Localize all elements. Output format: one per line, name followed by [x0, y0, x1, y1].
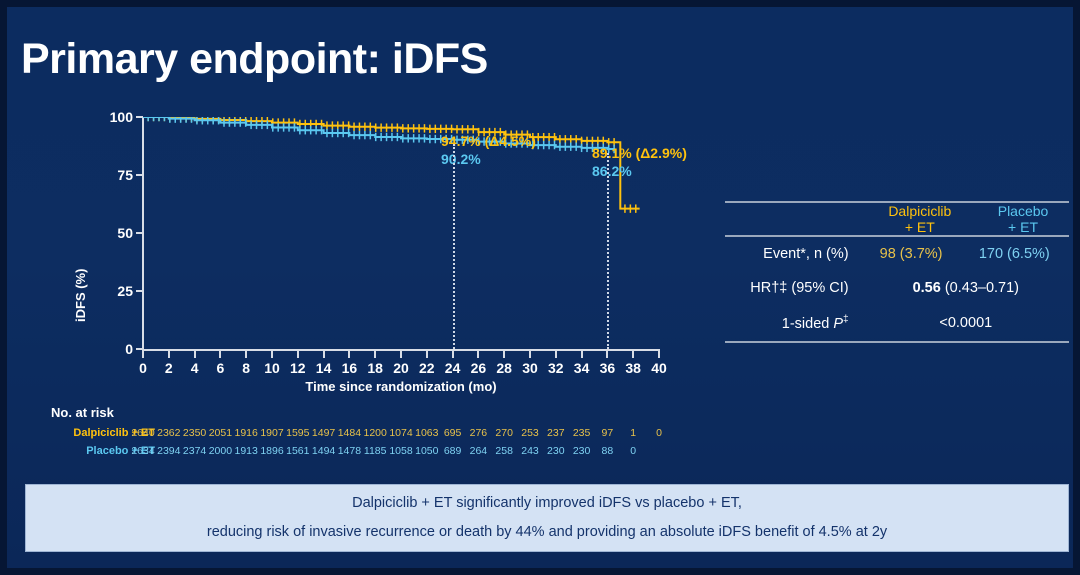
kaplan-meier-chart: iDFS (%) 0255075100 02468101214161820222… — [7, 117, 707, 417]
risk-value: 1896 — [260, 445, 283, 457]
risk-value: 0 — [630, 445, 636, 457]
risk-row-placebo: Placebo + ET 263423942374200019131896156… — [7, 445, 707, 461]
x-tick-label: 6 — [216, 360, 224, 376]
risk-value: 253 — [521, 427, 539, 439]
x-tick-mark — [168, 351, 170, 358]
table-rule-bottom — [725, 341, 1069, 343]
risk-value: 2051 — [209, 427, 232, 439]
pvalue-value: <0.0001 — [863, 305, 1069, 341]
x-tick-label: 32 — [548, 360, 564, 376]
y-tick-label: 25 — [117, 283, 133, 299]
risk-value: 2634 — [131, 445, 154, 457]
risk-value: 2350 — [183, 427, 206, 439]
risk-value: 1050 — [415, 445, 438, 457]
x-tick-label: 10 — [264, 360, 280, 376]
x-tick-label: 12 — [290, 360, 306, 376]
column-header-line2: + ET — [1008, 219, 1038, 235]
x-tick-mark — [194, 351, 196, 358]
annotation-36mo-dalpiciclib: 89.1% (Δ2.9%) — [592, 145, 687, 161]
x-tick-label: 24 — [445, 360, 461, 376]
y-tick-mark — [136, 116, 143, 118]
x-tick-mark — [632, 351, 634, 358]
x-tick-mark — [581, 351, 583, 358]
risk-value: 88 — [602, 445, 614, 457]
risk-row-values: 2640236223502051191619071595149714841200… — [143, 427, 659, 443]
risk-value: 230 — [573, 445, 591, 457]
curve-dalpiciclib — [143, 117, 640, 213]
risk-table-title: No. at risk — [51, 405, 114, 420]
risk-value: 1185 — [364, 445, 387, 457]
slide-root: Primary endpoint: iDFS iDFS (%) 02550751… — [0, 0, 1080, 575]
annotation-36mo-placebo: 86.2% — [592, 163, 632, 179]
reference-line-24mo — [453, 144, 455, 349]
x-tick-mark — [219, 351, 221, 358]
x-tick-label: 20 — [393, 360, 409, 376]
column-header-line1: Dalpiciclib — [888, 203, 951, 219]
risk-value: 235 — [573, 427, 591, 439]
x-tick-label: 38 — [625, 360, 641, 376]
risk-value: 2394 — [157, 445, 180, 457]
risk-value: 1200 — [364, 427, 387, 439]
risk-value: 1907 — [260, 427, 283, 439]
risk-row-values: 2634239423742000191318961561149414781185… — [143, 445, 659, 461]
x-tick-label: 30 — [522, 360, 538, 376]
risk-value: 2374 — [183, 445, 206, 457]
hr-value: 0.56 (0.43–0.71) — [863, 271, 1069, 305]
risk-value: 258 — [495, 445, 513, 457]
risk-value: 237 — [547, 427, 565, 439]
x-tick-mark — [374, 351, 376, 358]
x-tick-mark — [555, 351, 557, 358]
table-row-event: Event*, n (%) 98 (3.7%) 170 (6.5%) — [725, 237, 1069, 271]
risk-value: 1484 — [338, 427, 361, 439]
x-tick-label: 16 — [342, 360, 358, 376]
x-tick-label: 14 — [316, 360, 332, 376]
hr-confidence-interval: (0.43–0.71) — [941, 280, 1019, 296]
x-tick-mark — [142, 351, 144, 358]
y-tick-mark — [136, 232, 143, 234]
row-label-event: Event*, n (%) — [725, 237, 863, 271]
risk-value: 1595 — [286, 427, 309, 439]
x-tick-mark — [245, 351, 247, 358]
x-tick-label: 0 — [139, 360, 147, 376]
x-tick-label: 22 — [419, 360, 435, 376]
annotation-24mo-placebo: 90.2% — [441, 151, 481, 167]
x-axis-ticks: 0246810121416182022242628303234363840 — [143, 351, 659, 377]
x-tick-label: 18 — [367, 360, 383, 376]
x-tick-label: 4 — [191, 360, 199, 376]
annotation-24mo-dalpiciclib: 94.7% (Δ4.5%) — [441, 133, 536, 149]
risk-value: 270 — [495, 427, 513, 439]
x-tick-mark — [477, 351, 479, 358]
risk-value: 1074 — [389, 427, 412, 439]
x-tick-mark — [503, 351, 505, 358]
risk-value: 1058 — [389, 445, 412, 457]
hr-point-estimate: 0.56 — [913, 280, 941, 296]
x-tick-mark — [452, 351, 454, 358]
x-tick-label: 40 — [651, 360, 667, 376]
risk-value: 1561 — [286, 445, 309, 457]
x-tick-mark — [529, 351, 531, 358]
conclusion-banner: Dalpiciclib + ET significantly improved … — [25, 484, 1069, 552]
risk-value: 695 — [444, 427, 462, 439]
risk-value: 1497 — [312, 427, 335, 439]
column-header-dalpiciclib: Dalpiciclib + ET — [863, 203, 977, 235]
risk-value: 276 — [470, 427, 488, 439]
row-label-hr: HR†‡ (95% CI) — [725, 271, 863, 305]
risk-value: 2640 — [131, 427, 154, 439]
x-tick-mark — [400, 351, 402, 358]
risk-value: 1913 — [235, 445, 258, 457]
banner-line-2: reducing risk of invasive recurrence or … — [207, 518, 887, 547]
y-axis-label: iDFS (%) — [73, 269, 88, 322]
x-tick-mark — [323, 351, 325, 358]
x-tick-mark — [606, 351, 608, 358]
survival-curves-svg — [143, 117, 659, 349]
y-tick-label: 75 — [117, 167, 133, 183]
risk-value: 230 — [547, 445, 565, 457]
x-tick-label: 36 — [600, 360, 616, 376]
statistics-table: Dalpiciclib + ET Placebo + ET Event*, n … — [725, 201, 1069, 343]
y-axis-ticks: 0255075100 — [93, 117, 133, 417]
risk-value: 243 — [521, 445, 539, 457]
x-tick-label: 26 — [471, 360, 487, 376]
reference-line-36mo — [607, 153, 609, 349]
risk-value: 689 — [444, 445, 462, 457]
page-title: Primary endpoint: iDFS — [21, 35, 488, 84]
y-tick-mark — [136, 174, 143, 176]
column-header-line1: Placebo — [998, 203, 1049, 219]
x-tick-mark — [348, 351, 350, 358]
table-row-hr: HR†‡ (95% CI) 0.56 (0.43–0.71) — [725, 271, 1069, 305]
risk-value: 1494 — [312, 445, 335, 457]
event-value-dalpiciclib: 98 (3.7%) — [863, 237, 960, 271]
table-row-pvalue: 1-sided P‡ <0.0001 — [725, 305, 1069, 341]
risk-value: 0 — [656, 427, 662, 439]
x-tick-mark — [271, 351, 273, 358]
column-header-placebo: Placebo + ET — [977, 203, 1069, 235]
risk-value: 1 — [630, 427, 636, 439]
y-tick-mark — [136, 290, 143, 292]
x-tick-mark — [658, 351, 660, 358]
risk-value: 2362 — [157, 427, 180, 439]
y-tick-label: 50 — [117, 225, 133, 241]
risk-value: 2000 — [209, 445, 232, 457]
x-tick-mark — [426, 351, 428, 358]
x-axis-label: Time since randomization (mo) — [143, 379, 659, 394]
x-tick-label: 28 — [496, 360, 512, 376]
x-tick-label: 8 — [242, 360, 250, 376]
column-header-line2: + ET — [905, 219, 935, 235]
x-tick-mark — [297, 351, 299, 358]
x-tick-label: 2 — [165, 360, 173, 376]
x-tick-label: 34 — [574, 360, 590, 376]
risk-value: 1478 — [338, 445, 361, 457]
y-tick-label: 0 — [125, 341, 133, 357]
table-header-row: Dalpiciclib + ET Placebo + ET — [725, 203, 1069, 235]
risk-value: 1063 — [415, 427, 438, 439]
y-tick-label: 100 — [110, 109, 133, 125]
y-tick-mark — [136, 348, 143, 350]
risk-row-dalpiciclib: Dalpiciclib + ET 26402362235020511916190… — [7, 427, 707, 443]
risk-value: 1916 — [235, 427, 258, 439]
risk-value: 264 — [470, 445, 488, 457]
banner-line-1: Dalpiciclib + ET significantly improved … — [352, 489, 742, 518]
event-value-placebo: 170 (6.5%) — [960, 237, 1069, 271]
risk-value: 97 — [602, 427, 614, 439]
plot-area — [143, 117, 659, 349]
row-label-pvalue: 1-sided P‡ — [725, 305, 863, 341]
